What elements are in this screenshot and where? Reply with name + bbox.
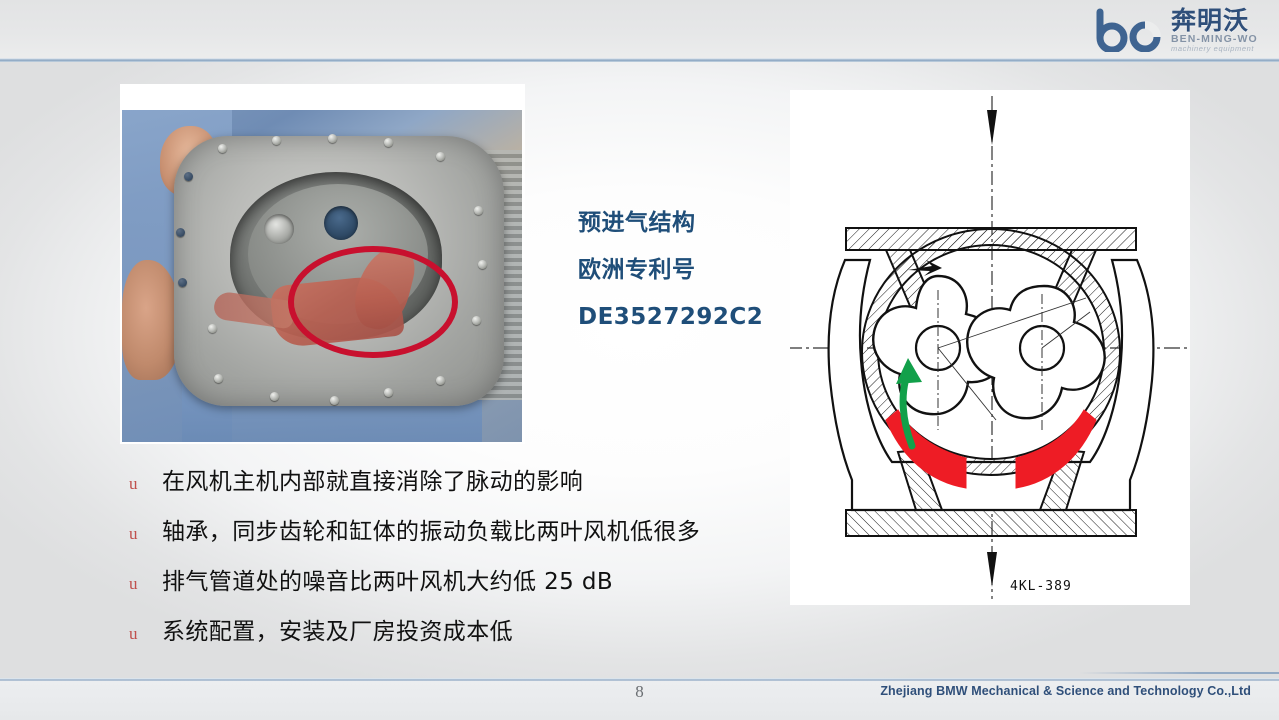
outlet-arrow-icon (987, 552, 997, 587)
bullet-text: 轴承，同步齿轮和缸体的振动负载比两叶风机低很多 (162, 512, 700, 546)
logo-tagline: machinery equipment (1171, 45, 1258, 53)
slide-canvas: 奔明沃 BEN-MING-WO machinery equipment (0, 0, 1279, 720)
bullet-list: u 在风机主机内部就直接消除了脉动的影响 u 轴承，同步齿轮和缸体的振动负载比两… (120, 462, 780, 662)
photo-bolt (330, 396, 339, 405)
bullet-marker-icon: u (120, 474, 162, 494)
photo-shaft-bore-a (264, 214, 294, 244)
bullet-marker-icon: u (120, 524, 162, 544)
bullet-marker-icon: u (120, 574, 162, 594)
title-line-3: DE3527292C2 (578, 294, 808, 341)
logo-latin-name: BEN-MING-WO (1171, 34, 1258, 45)
photo-bolt (270, 392, 279, 401)
photo-bolt (208, 324, 217, 333)
photo-bolt (178, 278, 187, 287)
header-band (0, 0, 1279, 60)
footer-tail-rule (1079, 672, 1279, 674)
photo-bolt (214, 374, 223, 383)
blower-casing-photo (122, 110, 522, 442)
bo-monogram-icon (1095, 8, 1169, 52)
header-divider-rule (0, 58, 1279, 62)
list-item: u 系统配置，安装及厂房投资成本低 (120, 612, 780, 662)
list-item: u 在风机主机内部就直接消除了脉动的影响 (120, 462, 780, 512)
bullet-text: 排气管道处的噪音比两叶风机大约低 25 dB (162, 562, 613, 596)
tri-lobe-blower-cross-section: 4KL-389 (790, 90, 1190, 605)
photo-bolt (384, 138, 393, 147)
photo-bolt (328, 134, 337, 143)
title-line-2: 欧洲专利号 (578, 247, 808, 294)
photo-frame (120, 84, 525, 444)
diagram-part-label: 4KL-389 (1010, 579, 1072, 594)
photo-bolt (176, 228, 185, 237)
list-item: u 轴承，同步齿轮和缸体的振动负载比两叶风机低很多 (120, 512, 780, 562)
patent-title-block: 预进气结构 欧洲专利号 DE3527292C2 (578, 200, 808, 341)
footer-company-name: Zhejiang BMW Mechanical & Science and Te… (880, 684, 1251, 698)
photo-bolt (184, 172, 193, 181)
photo-bolt (436, 152, 445, 161)
photo-bolt (272, 136, 281, 145)
list-item: u 排气管道处的噪音比两叶风机大约低 25 dB (120, 562, 780, 612)
logo-wordmark: 奔明沃 BEN-MING-WO machinery equipment (1171, 8, 1258, 53)
photo-bolt (436, 376, 445, 385)
title-line-1: 预进气结构 (578, 200, 808, 247)
photo-bolt (218, 144, 227, 153)
photo-bolt (472, 316, 481, 325)
bullet-text: 在风机主机内部就直接消除了脉动的影响 (162, 462, 583, 496)
company-logo: 奔明沃 BEN-MING-WO machinery equipment (1095, 2, 1273, 58)
logo-chinese-name: 奔明沃 (1171, 8, 1258, 33)
red-ellipse-highlight (288, 246, 458, 358)
photo-shaft-bore-b (324, 206, 358, 240)
base-flange (846, 510, 1136, 536)
diagram-drawing (790, 90, 1190, 605)
photo-bolt (474, 206, 483, 215)
bullet-text: 系统配置，安装及厂房投资成本低 (162, 612, 513, 646)
photo-bolt (478, 260, 487, 269)
photo-bolt (384, 388, 393, 397)
inlet-arrow-icon (987, 110, 997, 145)
bullet-marker-icon: u (120, 624, 162, 644)
